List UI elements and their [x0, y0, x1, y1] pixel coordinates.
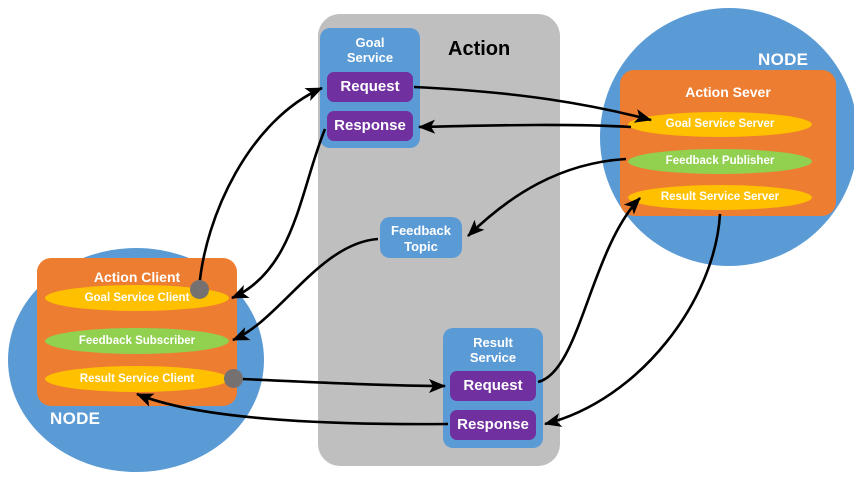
client-node-label: NODE: [50, 409, 100, 429]
result-service-client-connector-dot: [224, 369, 243, 388]
goal-service-title: Goal Service: [320, 36, 420, 66]
goal-service-response-label: Response: [334, 118, 406, 135]
result-service-server-label: Result Service Server: [661, 191, 779, 204]
result-service-response-pill[interactable]: Response: [450, 410, 536, 440]
goal-service-client-label: Goal Service Client: [85, 292, 190, 305]
result-service-server-ellipse[interactable]: Result Service Server: [628, 185, 812, 210]
goal-service-response-pill[interactable]: Response: [327, 111, 413, 141]
result-service-client-label: Result Service Client: [80, 373, 194, 386]
result-service-request-label: Request: [463, 378, 522, 395]
goal-service-request-label: Request: [340, 79, 399, 96]
server-node-label: NODE: [758, 50, 808, 70]
result-service-response-label: Response: [457, 417, 529, 434]
feedback-publisher-ellipse[interactable]: Feedback Publisher: [628, 149, 812, 174]
diagram-canvas: Action NODE Action Client Goal Service C…: [0, 0, 854, 480]
feedback-topic-box[interactable]: Feedback Topic: [380, 217, 462, 258]
feedback-subscriber-ellipse[interactable]: Feedback Subscriber: [45, 328, 229, 354]
goal-service-server-ellipse[interactable]: Goal Service Server: [628, 112, 812, 137]
feedback-publisher-label: Feedback Publisher: [666, 155, 775, 168]
action-client-title: Action Client: [37, 269, 237, 285]
result-service-title: Result Service: [443, 336, 543, 366]
edge-response-to-goal-client: [232, 129, 325, 298]
goal-service-request-pill[interactable]: Request: [327, 72, 413, 102]
result-service-client-ellipse[interactable]: Result Service Client: [45, 366, 229, 392]
feedback-topic-label: Feedback Topic: [380, 223, 462, 254]
action-server-title: Action Sever: [620, 84, 836, 100]
goal-service-server-label: Goal Service Server: [666, 118, 775, 131]
feedback-subscriber-label: Feedback Subscriber: [79, 335, 195, 348]
action-container-label: Action: [448, 38, 510, 61]
result-service-request-pill[interactable]: Request: [450, 371, 536, 401]
goal-service-client-connector-dot: [190, 280, 209, 299]
